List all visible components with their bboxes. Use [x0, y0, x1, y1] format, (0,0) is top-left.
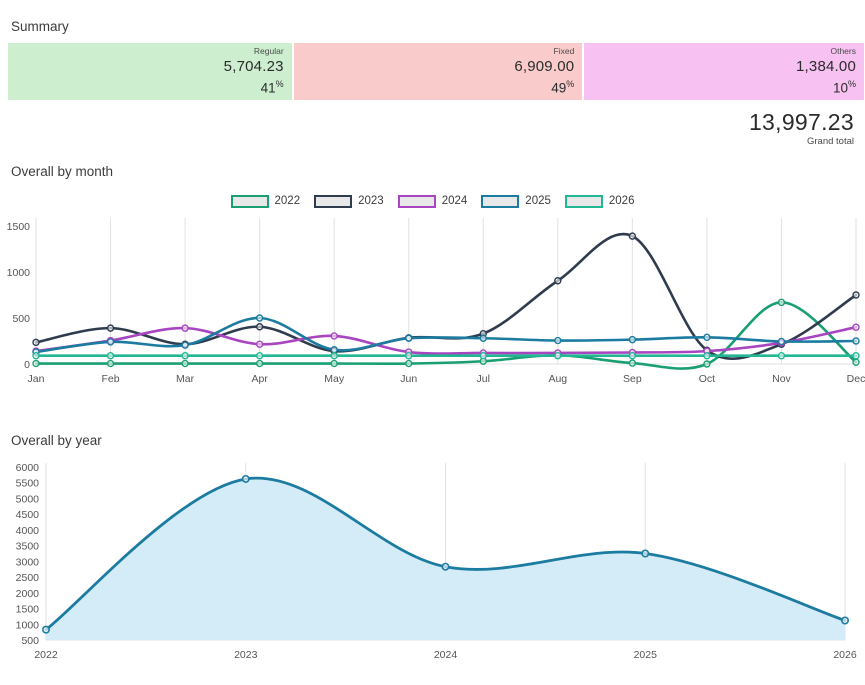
data-point[interactable]	[108, 353, 114, 359]
x-tick-label: Jun	[400, 373, 417, 385]
y-tick-label: 3500	[16, 541, 40, 553]
y-tick-label: 1000	[16, 619, 40, 631]
data-point[interactable]	[108, 361, 114, 367]
summary-card-value: 5,704.23	[224, 57, 284, 76]
legend-item-2022[interactable]: 2022	[231, 195, 301, 208]
data-point[interactable]	[853, 359, 859, 365]
y-tick-label: 1000	[7, 267, 31, 279]
data-point[interactable]	[182, 353, 188, 359]
chart-legend: 20222023202420252026	[0, 190, 865, 212]
data-point[interactable]	[182, 361, 188, 367]
summary-card-label: Fixed	[554, 46, 575, 57]
data-point[interactable]	[331, 361, 337, 367]
summary-card-label: Others	[830, 46, 856, 57]
legend-label: 2022	[275, 195, 301, 207]
summary-card-value: 1,384.00	[796, 57, 856, 76]
data-point[interactable]	[257, 324, 263, 330]
data-point[interactable]	[778, 299, 784, 305]
legend-item-2025[interactable]: 2025	[481, 195, 551, 208]
y-tick-label: 1500	[16, 604, 40, 616]
yearly-area-chart: 5001000150020002500300035004000450050005…	[0, 455, 865, 670]
data-point[interactable]	[257, 361, 263, 367]
data-point[interactable]	[629, 360, 635, 366]
x-tick-label: Feb	[101, 373, 119, 385]
legend-swatch-icon	[314, 195, 352, 208]
data-point[interactable]	[108, 339, 114, 345]
data-point[interactable]	[108, 325, 114, 331]
series-line-2025	[36, 318, 856, 352]
x-tick-label: Jan	[28, 373, 45, 385]
y-tick-label: 4000	[16, 525, 40, 537]
data-point[interactable]	[33, 361, 39, 367]
data-point[interactable]	[33, 353, 39, 359]
data-point[interactable]	[629, 233, 635, 239]
legend-swatch-icon	[231, 195, 269, 208]
monthly-line-chart: 20222023202420252026 050010001500JanFebM…	[0, 190, 865, 398]
data-point[interactable]	[480, 335, 486, 341]
y-tick-label: 1500	[7, 221, 31, 233]
summary-card-percent: 41%	[261, 76, 284, 97]
y-tick-label: 2500	[16, 572, 40, 584]
data-point[interactable]	[853, 324, 859, 330]
x-tick-label: Dec	[847, 373, 865, 385]
data-point[interactable]	[629, 337, 635, 343]
x-tick-label: 2025	[634, 649, 658, 661]
grand-total-label: Grand total	[749, 135, 854, 148]
monthly-chart-svg: 050010001500JanFebMarAprMayJunJulAugSepO…	[0, 212, 865, 398]
data-point[interactable]	[406, 335, 412, 341]
x-tick-label: Nov	[772, 373, 791, 385]
y-tick-label: 5500	[16, 478, 40, 490]
x-tick-label: May	[324, 373, 345, 385]
y-tick-label: 6000	[16, 462, 40, 474]
legend-label: 2024	[442, 195, 468, 207]
data-point[interactable]	[704, 361, 710, 367]
data-point[interactable]	[778, 353, 784, 359]
data-point[interactable]	[642, 550, 648, 556]
data-point[interactable]	[33, 339, 39, 345]
legend-swatch-icon	[481, 195, 519, 208]
summary-card-value: 6,909.00	[514, 57, 574, 76]
data-point[interactable]	[182, 342, 188, 348]
legend-swatch-icon	[398, 195, 436, 208]
legend-swatch-icon	[565, 195, 603, 208]
data-point[interactable]	[257, 315, 263, 321]
y-tick-label: 4500	[16, 509, 40, 521]
summary-card-percent: 10%	[833, 76, 856, 97]
data-point[interactable]	[331, 347, 337, 353]
data-point[interactable]	[704, 334, 710, 340]
dashboard-page: Summary Regular5,704.2341%Fixed6,909.004…	[0, 0, 865, 685]
summary-card-label: Regular	[254, 46, 284, 57]
x-tick-label: 2024	[434, 649, 458, 661]
summary-card-regular[interactable]: Regular5,704.2341%	[8, 43, 292, 100]
x-tick-label: Mar	[176, 373, 195, 385]
summary-cards: Regular5,704.2341%Fixed6,909.0049%Others…	[8, 43, 864, 100]
y-tick-label: 500	[12, 313, 30, 325]
y-tick-label: 2000	[16, 588, 40, 600]
summary-card-fixed[interactable]: Fixed6,909.0049%	[294, 43, 583, 100]
data-point[interactable]	[43, 626, 49, 632]
data-point[interactable]	[257, 353, 263, 359]
month-section-title: Overall by month	[11, 164, 113, 179]
data-point[interactable]	[555, 353, 561, 359]
data-point[interactable]	[853, 292, 859, 298]
data-point[interactable]	[406, 353, 412, 359]
data-point[interactable]	[182, 325, 188, 331]
data-point[interactable]	[480, 353, 486, 359]
x-tick-label: Oct	[699, 373, 715, 385]
yearly-chart-svg: 5001000150020002500300035004000450050005…	[0, 455, 865, 670]
data-point[interactable]	[243, 476, 249, 482]
data-point[interactable]	[406, 361, 412, 367]
data-point[interactable]	[778, 338, 784, 344]
data-point[interactable]	[555, 338, 561, 344]
data-point[interactable]	[442, 564, 448, 570]
data-point[interactable]	[331, 333, 337, 339]
year-section-title: Overall by year	[11, 433, 102, 448]
legend-label: 2025	[525, 195, 551, 207]
series-line-2023	[36, 234, 856, 359]
data-point[interactable]	[704, 353, 710, 359]
y-tick-label: 0	[24, 359, 30, 371]
data-point[interactable]	[555, 278, 561, 284]
data-point[interactable]	[853, 338, 859, 344]
x-tick-label: 2026	[833, 649, 857, 661]
data-point[interactable]	[257, 341, 263, 347]
x-tick-label: Sep	[623, 373, 642, 385]
legend-item-2023[interactable]: 2023	[314, 195, 384, 208]
data-point[interactable]	[842, 617, 848, 623]
y-tick-label: 500	[21, 635, 39, 647]
data-point[interactable]	[331, 353, 337, 359]
x-tick-label: Aug	[548, 373, 567, 385]
summary-card-percent: 49%	[551, 76, 574, 97]
legend-label: 2023	[358, 195, 384, 207]
y-tick-label: 5000	[16, 493, 40, 505]
legend-item-2026[interactable]: 2026	[565, 195, 635, 208]
legend-item-2024[interactable]: 2024	[398, 195, 468, 208]
data-point[interactable]	[853, 353, 859, 359]
x-tick-label: Apr	[251, 373, 268, 385]
grand-total-value: 13,997.23	[749, 108, 854, 136]
y-tick-label: 3000	[16, 556, 40, 568]
x-tick-label: 2023	[234, 649, 258, 661]
x-tick-label: 2022	[34, 649, 58, 661]
data-point[interactable]	[629, 353, 635, 359]
x-tick-label: Jul	[477, 373, 490, 385]
summary-title: Summary	[11, 19, 69, 34]
legend-label: 2026	[609, 195, 635, 207]
grand-total: 13,997.23 Grand total	[749, 108, 854, 148]
summary-card-others[interactable]: Others1,384.0010%	[584, 43, 864, 100]
